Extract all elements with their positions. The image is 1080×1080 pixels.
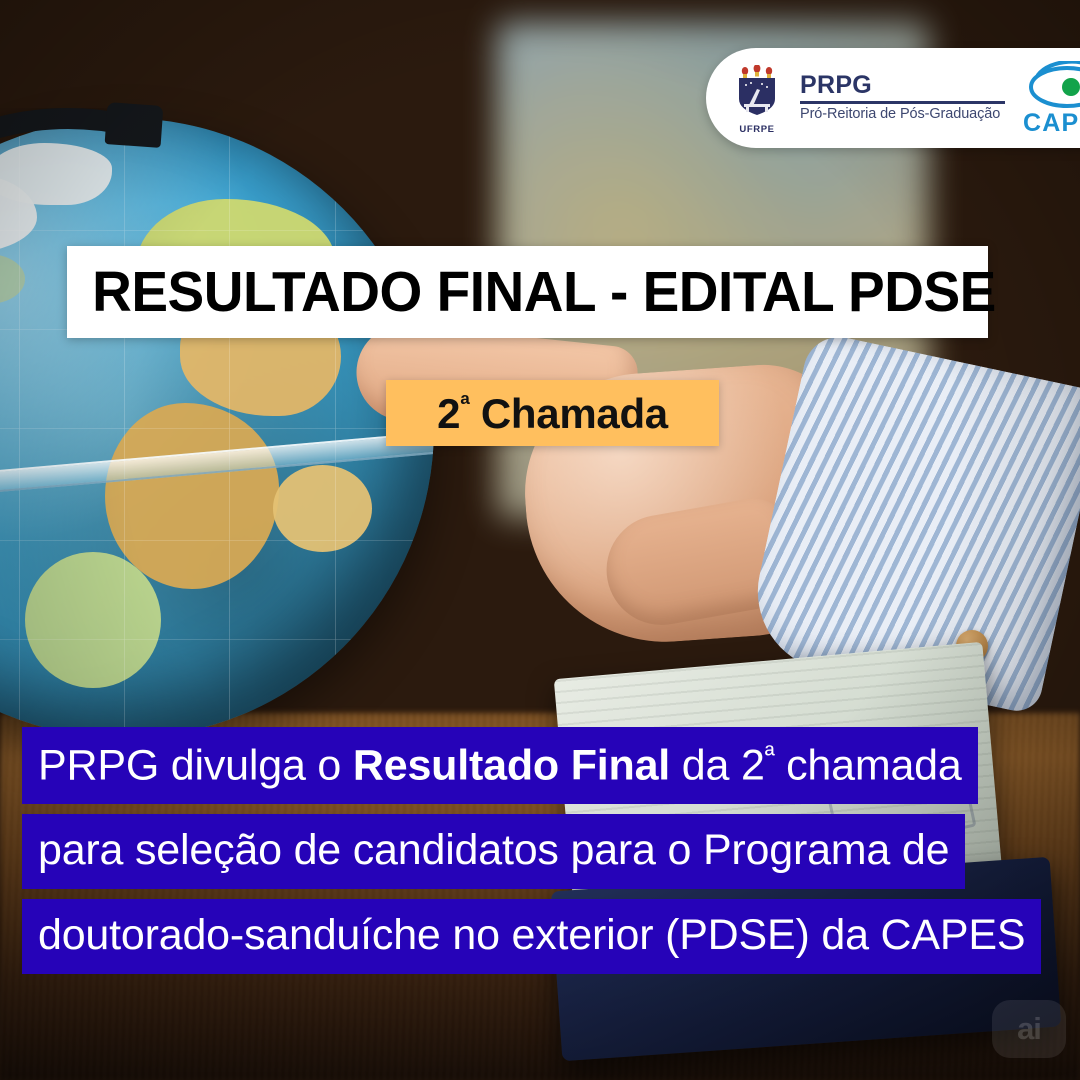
capes-logo: CAPES bbox=[1023, 61, 1080, 136]
body-seg-plain: PRPG divulga o bbox=[38, 741, 353, 789]
capes-label: CAPES bbox=[1023, 111, 1080, 136]
poster-canvas: UFRPE PRPG Pró-Reitoria de Pós-Graduação… bbox=[0, 0, 1080, 1080]
prpg-divider bbox=[800, 101, 1005, 104]
body-seg-ordinal: ª bbox=[765, 740, 775, 770]
subtitle-word: Chamada bbox=[470, 390, 668, 437]
body-seg-bold: Resultado Final bbox=[353, 741, 670, 789]
ufrpe-label: UFRPE bbox=[739, 124, 774, 135]
subtitle-ordinal: ª bbox=[460, 389, 469, 419]
ufrpe-crest-icon: UFRPE bbox=[728, 61, 786, 135]
prpg-subtitle: Pró-Reitoria de Pós-Graduação bbox=[800, 107, 1005, 123]
body-seg-plain: chamada bbox=[774, 741, 961, 789]
body-line-3: doutorado-sanduíche no exterior (PDSE) d… bbox=[22, 899, 1041, 974]
body-copy: PRPG divulga o Resultado Final da 2ª cha… bbox=[22, 727, 1080, 984]
body-seg-plain: da 2 bbox=[670, 741, 765, 789]
body-line-2: para seleção de candidatos para o Progra… bbox=[22, 814, 965, 889]
institutional-logo-bar: UFRPE PRPG Pró-Reitoria de Pós-Graduação… bbox=[706, 48, 1080, 148]
body-line-1: PRPG divulga o Resultado Final da 2ª cha… bbox=[22, 727, 978, 804]
subtitle-badge: 2ª Chamada bbox=[386, 380, 719, 446]
subtitle-text: 2ª Chamada bbox=[437, 389, 668, 438]
subtitle-number: 2 bbox=[437, 390, 460, 437]
prpg-logotype: PRPG Pró-Reitoria de Pós-Graduação bbox=[798, 73, 1005, 123]
capes-eye-icon bbox=[1026, 61, 1080, 113]
ai-watermark-badge: ai bbox=[992, 1000, 1066, 1058]
prpg-title: PRPG bbox=[800, 73, 1005, 98]
headline-band: RESULTADO FINAL - EDITAL PDSE bbox=[67, 246, 988, 338]
page-title: RESULTADO FINAL - EDITAL PDSE bbox=[67, 259, 996, 325]
